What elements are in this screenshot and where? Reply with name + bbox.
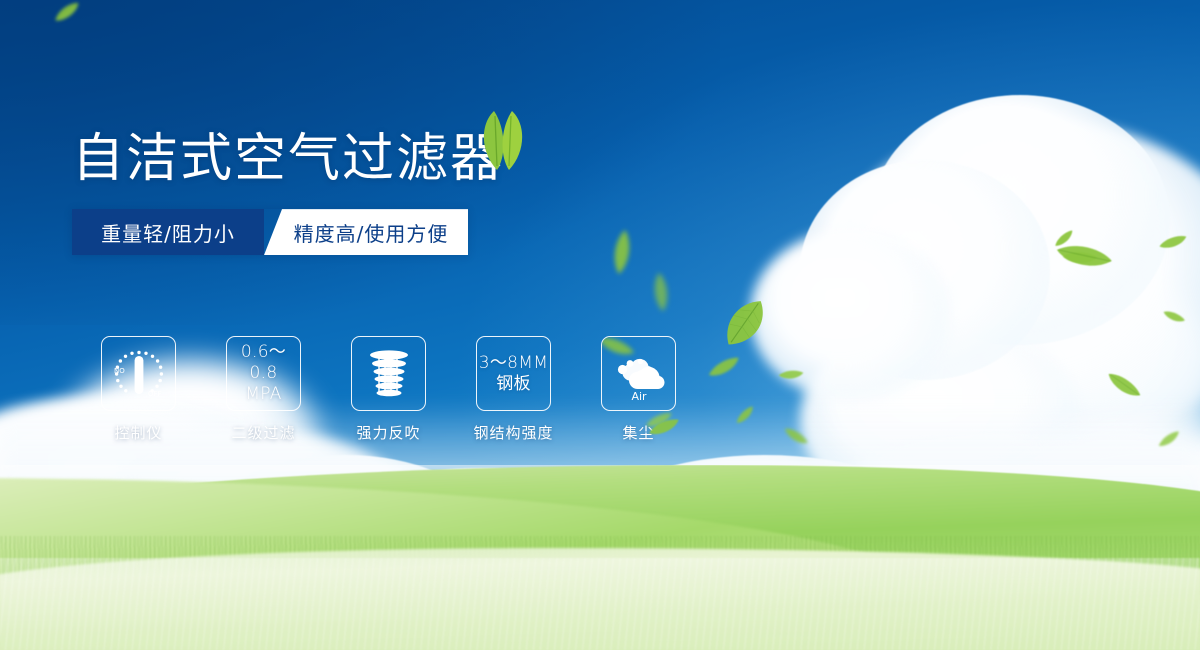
page-title: 自洁式空气过滤器 <box>72 132 504 187</box>
feature-box: Air <box>601 336 676 411</box>
feature-item-control-dial[interactable]: NO OFF 控制仪 <box>76 336 201 443</box>
feature-box: NO OFF <box>101 336 176 411</box>
pressure-text-icon: 0.6～0.8 MPA <box>227 342 300 404</box>
pressure-range: 0.6～0.8 <box>227 342 300 383</box>
air-label: Air <box>631 390 647 403</box>
feature-label: 钢结构强度 <box>473 422 553 443</box>
control-dial-icon: NO OFF <box>107 342 171 406</box>
field-sheen <box>0 558 1200 650</box>
feature-label: 二级过滤 <box>231 422 295 443</box>
steel-material: 钢板 <box>479 374 548 395</box>
promo-banner: 自洁式空气过滤器 重量轻/阻力小 精度高/使用方便 <box>0 0 1200 650</box>
feature-item-pressure[interactable]: 0.6～0.8 MPA 二级过滤 <box>201 336 326 443</box>
banner-content: 自洁式空气过滤器 重量轻/阻力小 精度高/使用方便 <box>72 132 504 255</box>
grass-field <box>0 465 1200 650</box>
dial-on-label: NO <box>114 367 125 375</box>
feature-item-dust-collect[interactable]: Air 集尘 <box>576 336 701 443</box>
feature-list: NO OFF 控制仪 0.6～0.8 MPA 二级过滤 <box>76 336 701 443</box>
feature-label: 强力反吹 <box>356 422 420 443</box>
feature-label: 集尘 <box>622 422 654 443</box>
steel-thickness: 3～8MM <box>479 353 548 374</box>
feature-item-steel-strength[interactable]: 3～8MM 钢板 钢结构强度 <box>451 336 576 443</box>
subtitle-right-segment: 精度高/使用方便 <box>264 209 468 255</box>
subtitle-left-segment: 重量轻/阻力小 <box>72 209 264 255</box>
feature-box <box>351 336 426 411</box>
feature-box: 3～8MM 钢板 <box>476 336 551 411</box>
subtitle-bar: 重量轻/阻力小 精度高/使用方便 <box>72 209 468 255</box>
pressure-unit: MPA <box>227 384 300 405</box>
dial-off-label: OFF <box>148 390 162 398</box>
sprout-leaves-icon <box>470 108 536 172</box>
filter-stack-icon <box>357 342 421 406</box>
steel-plate-text-icon: 3～8MM 钢板 <box>479 353 548 394</box>
feature-label: 控制仪 <box>114 422 162 443</box>
feature-box: 0.6～0.8 MPA <box>226 336 301 411</box>
feature-item-backblow[interactable]: 强力反吹 <box>326 336 451 443</box>
